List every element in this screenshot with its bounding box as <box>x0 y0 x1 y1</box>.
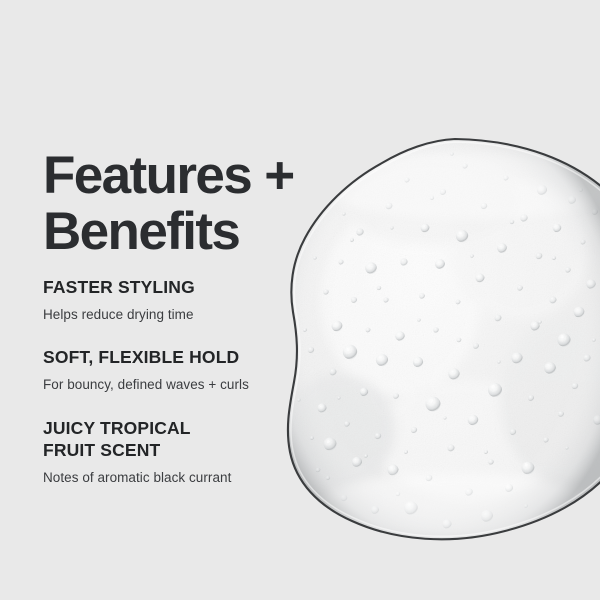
feature-description: For bouncy, defined waves + curls <box>43 376 313 394</box>
feature-title: SOFT, FLEXIBLE HOLD <box>43 347 313 369</box>
feature-list: FASTER STYLING Helps reduce drying time … <box>43 277 313 486</box>
feature-item: SOFT, FLEXIBLE HOLD For bouncy, defined … <box>43 347 313 393</box>
product-feature-panel: Features + Benefits FASTER STYLING Helps… <box>0 0 600 600</box>
feature-item: JUICY TROPICAL FRUIT SCENT Notes of arom… <box>43 418 313 486</box>
page-title: Features + Benefits <box>43 148 373 260</box>
feature-title: FASTER STYLING <box>43 277 313 299</box>
text-content: Features + Benefits FASTER STYLING Helps… <box>0 0 600 600</box>
feature-item: FASTER STYLING Helps reduce drying time <box>43 277 313 323</box>
feature-description: Notes of aromatic black currant <box>43 469 313 487</box>
feature-description: Helps reduce drying time <box>43 306 313 324</box>
feature-title: JUICY TROPICAL FRUIT SCENT <box>43 418 313 462</box>
